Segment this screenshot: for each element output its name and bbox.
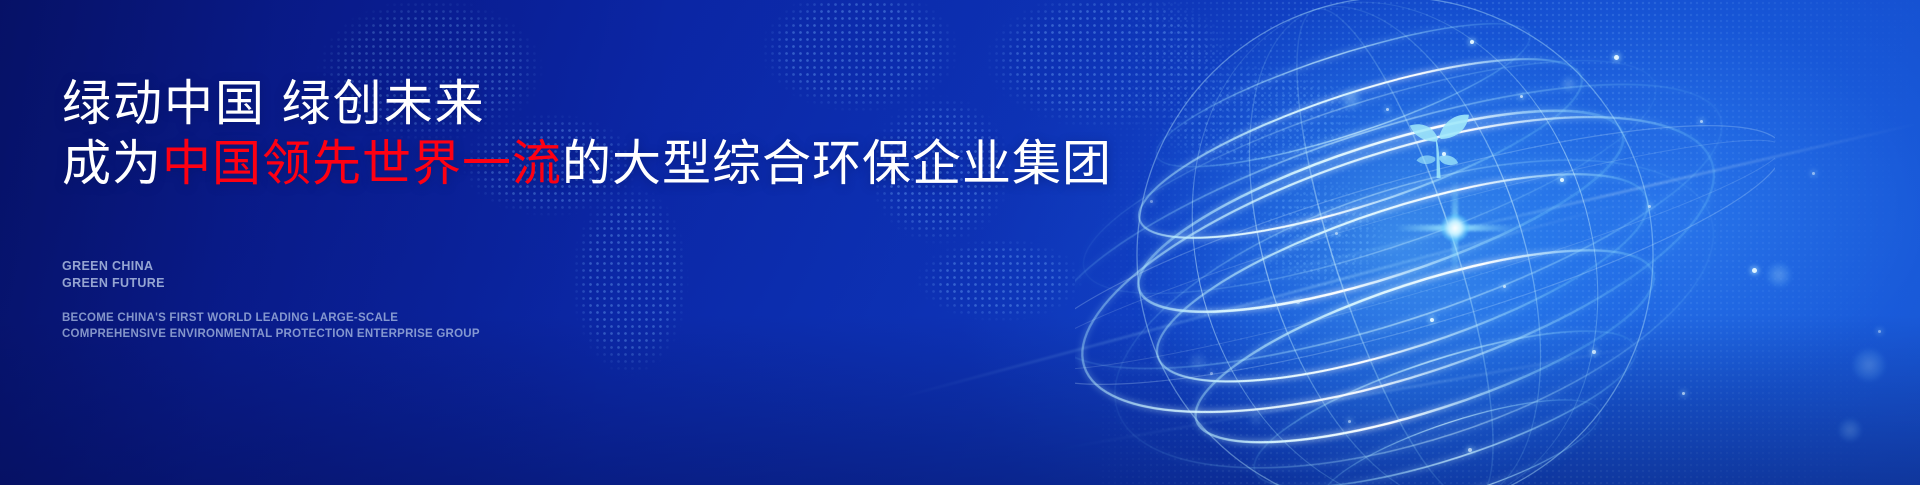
english-slogan-line-2: GREEN FUTURE: [62, 275, 165, 292]
light-streak: [1160, 122, 1920, 299]
burst-core: [1441, 214, 1469, 242]
globe-glow: [1135, 0, 1655, 485]
burst-ray-vertical: [1452, 178, 1458, 278]
english-slogan-line-1: GREEN CHINA: [62, 258, 165, 275]
headline-line-2: 成为中国领先世界一流的大型综合环保企业集团: [62, 136, 1062, 194]
hero-banner: 绿动中国 绿创未来 成为中国领先世界一流的大型综合环保企业集团 GREEN CH…: [0, 0, 1920, 485]
light-streak: [1055, 341, 1666, 451]
left-vignette: [0, 0, 1920, 485]
sprout-leaf-icon: [1395, 100, 1481, 186]
headline-line-1: 绿动中国 绿创未来: [62, 76, 1062, 134]
headline-block: 绿动中国 绿创未来 成为中国领先世界一流的大型综合环保企业集团: [62, 76, 1062, 194]
particle-field: [0, 0, 1920, 485]
english-slogan: GREEN CHINA GREEN FUTURE: [62, 258, 165, 292]
globe-wireframe-svg: [1075, 0, 1775, 485]
light-streak: [893, 202, 1628, 401]
globe-graphic: [1075, 0, 1775, 485]
english-tagline: BECOME CHINA'S FIRST WORLD LEADING LARGE…: [62, 311, 480, 343]
headline-line-2-highlight: 中国领先世界一流: [162, 137, 562, 191]
english-tagline-line-2: COMPREHENSIVE ENVIRONMENTAL PROTECTION E…: [62, 327, 480, 343]
burst-ray-horizontal: [1395, 225, 1515, 231]
hex-dot-texture: [1100, 0, 1920, 485]
headline-line-2-suffix: 的大型综合环保企业集团: [562, 137, 1112, 191]
headline-line-2-prefix: 成为: [62, 137, 162, 191]
light-burst-icon: [1395, 168, 1515, 288]
english-tagline-line-1: BECOME CHINA'S FIRST WORLD LEADING LARGE…: [62, 311, 480, 327]
